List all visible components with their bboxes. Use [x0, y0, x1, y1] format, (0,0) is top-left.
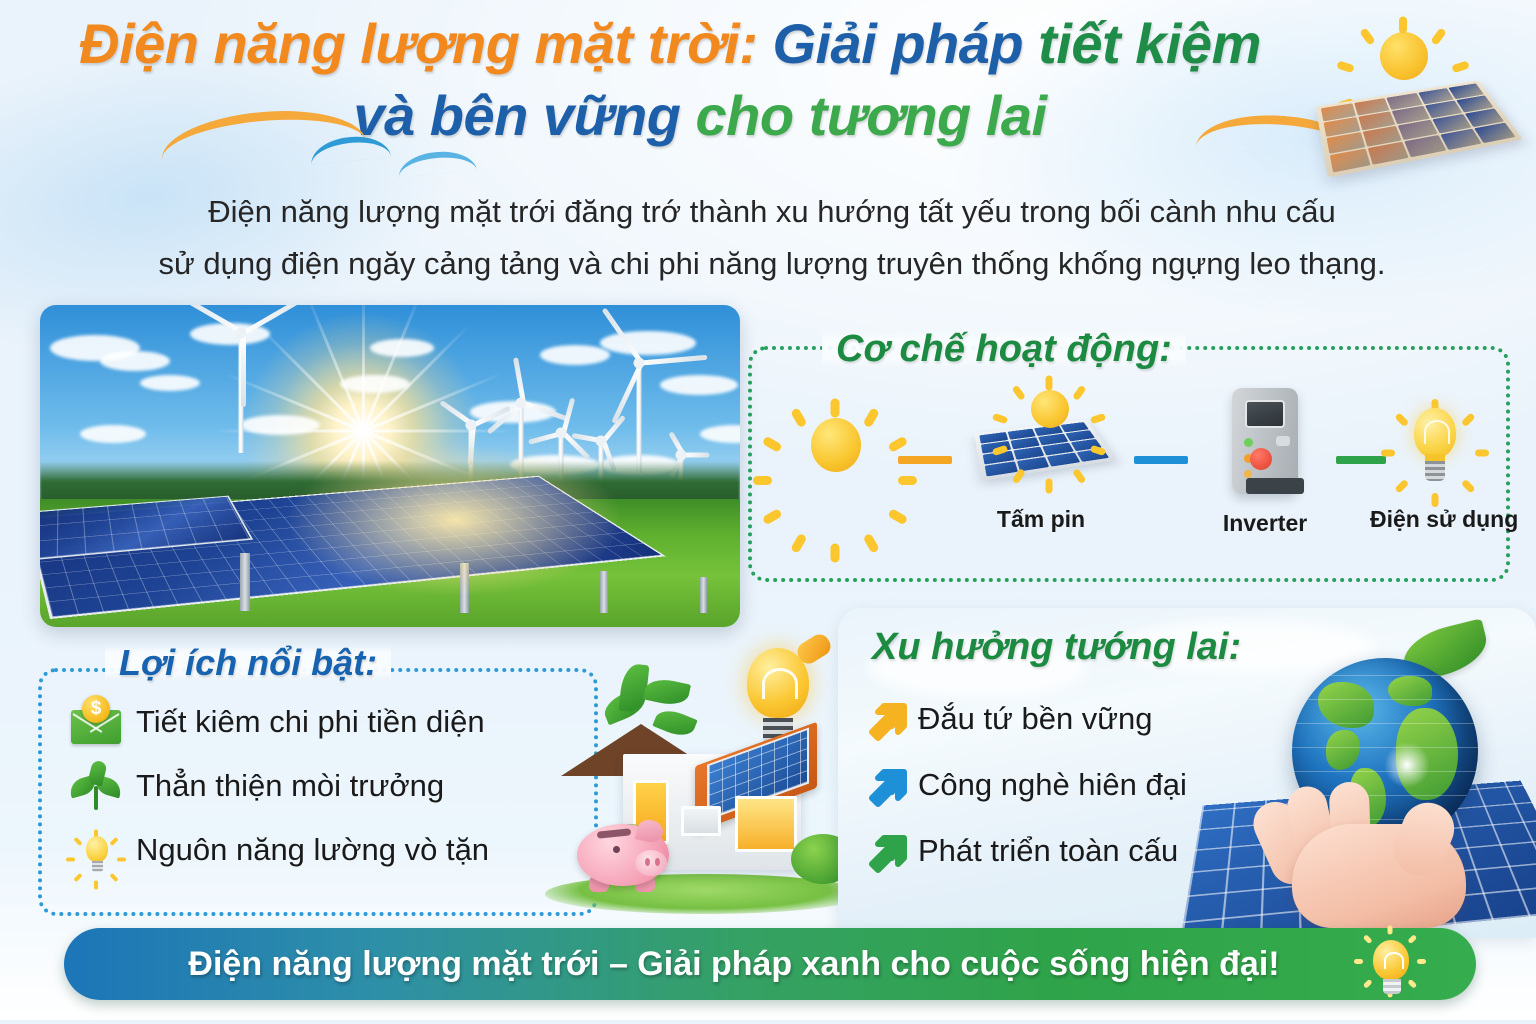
leaf	[643, 676, 691, 709]
bulb-ray	[1381, 450, 1395, 457]
sun-ray	[1072, 385, 1086, 401]
bulb-ray	[1432, 493, 1439, 507]
sun-ray	[109, 873, 118, 882]
piggy-snout	[635, 850, 667, 876]
title-segment-blue-2: và bên vững	[353, 84, 680, 147]
arrow-up-right-icon	[862, 696, 908, 742]
arrow-panel-to-inverter	[1134, 456, 1188, 464]
hand-holding-green-earth-globe-illustration	[1230, 622, 1530, 934]
trend-label-2: Công nghè hiên đại	[918, 767, 1187, 803]
sun-ray	[66, 858, 75, 862]
mechanism-flow: Tấm pin Inverter	[770, 378, 1500, 558]
wind-turbine	[240, 333, 242, 453]
sun-ray	[362, 305, 422, 432]
sun-ray	[863, 533, 880, 554]
benefits-list: $ Tiết kiêm chi phi tiền diện Thẳn thiện…	[68, 690, 588, 882]
flow-step-2-label: Tấm pin	[966, 506, 1116, 533]
title-line-2: và bên vững cho tương lai	[0, 80, 1340, 152]
bulb-base	[1383, 979, 1401, 994]
bulb-filament	[1424, 420, 1450, 444]
list-item: Đắu tứ bền vững	[862, 686, 1282, 752]
sun-ray	[1072, 468, 1086, 484]
flow-step-panel: Tấm pin	[966, 384, 1116, 533]
inverter-screen	[1245, 400, 1285, 428]
inverter-led-green	[1244, 438, 1253, 447]
cloud	[660, 375, 738, 395]
bottom-banner: Điện năng lượng mặt trới – Giải pháp xan…	[64, 928, 1476, 1000]
hand	[1248, 772, 1498, 932]
sun-ray	[1336, 60, 1355, 73]
sun-ray	[305, 305, 365, 432]
bulb-base	[92, 861, 103, 872]
bulb-base	[1425, 461, 1445, 481]
sun-ray	[1399, 17, 1407, 34]
sun-icon	[1366, 18, 1440, 92]
mechanism-panel-title: Cơ chế hoạt động:	[822, 330, 1186, 368]
arrow-sun-to-panel	[898, 456, 952, 464]
arrow-up-right-icon	[862, 828, 908, 874]
sun-ray	[117, 858, 126, 862]
title-segment-green-2: cho tương lai	[695, 84, 1046, 147]
sun-ray	[863, 407, 880, 428]
inverter-power-button	[1250, 448, 1272, 470]
cloud	[100, 351, 170, 371]
bulb-ray	[1461, 479, 1476, 494]
piggy-nostril	[655, 858, 660, 866]
turbine-hub	[516, 398, 527, 409]
list-item: Thẳn thiện mòi trưởng	[68, 754, 588, 818]
turbine-hub	[236, 328, 247, 339]
turbine-blade	[241, 333, 246, 407]
sun-ray	[992, 413, 1008, 424]
dollar-coin-icon: $	[82, 695, 110, 723]
panel-support-leg	[240, 553, 250, 611]
bulb-glass	[86, 836, 108, 862]
continent	[1388, 676, 1432, 706]
arrow-up-right-icon	[862, 762, 908, 808]
benefit-label-3: Nguôn năng lường vò tặn	[136, 832, 489, 868]
sun-ray	[790, 407, 807, 428]
sun-core	[1031, 390, 1069, 428]
sun-ray	[831, 544, 840, 563]
solar-farm-with-wind-turbines-photo	[40, 305, 740, 627]
flow-step-load: Điện sử dụng	[1370, 390, 1500, 533]
turbine-hub	[634, 358, 645, 369]
lightbulb-icon	[1387, 390, 1483, 502]
bulb-ray	[1394, 479, 1409, 494]
money-envelope-icon: $	[68, 694, 124, 750]
flow-step-inverter: Inverter	[1200, 386, 1330, 537]
cloud	[540, 345, 610, 365]
subtitle: Điện năng lượng mặt trới đăng trớ thành …	[52, 186, 1492, 290]
sun-ray	[831, 399, 840, 418]
future-trends-list: Đắu tứ bền vững Công nghè hiên đại Phát …	[862, 686, 1282, 884]
sun-ray	[109, 837, 118, 846]
bulb-filament	[1384, 952, 1404, 969]
inverter-body	[1232, 388, 1298, 494]
bulb-ray	[1394, 412, 1409, 427]
inverter-button-small	[1276, 436, 1290, 446]
infographic-page: Điện năng lượng mặt trời: Giải pháp tiết…	[0, 0, 1536, 1024]
piggy-eye	[613, 846, 620, 853]
list-item: Phát triển toàn cấu	[862, 818, 1282, 884]
panel-support-leg	[700, 577, 707, 613]
sun-icon	[787, 396, 883, 492]
inverter-led-amber	[1244, 470, 1252, 478]
banner-text: Điện năng lượng mặt trới – Giải pháp xan…	[64, 928, 1404, 1000]
tilted-solar-panel-with-sun-icon	[1314, 10, 1514, 180]
title-line-1: Điện năng lượng mặt trời: Giải pháp tiết…	[0, 8, 1340, 80]
house-window-small	[681, 806, 721, 836]
sun-ray	[1354, 959, 1363, 964]
turbine-hub	[466, 420, 477, 431]
solar-panel-icon	[976, 384, 1106, 492]
solar-panel-icon	[1316, 80, 1523, 177]
subtitle-line-2: sử dụng điện ngăy cảng tảng và chi phi n…	[52, 238, 1492, 290]
sun-ray	[1363, 979, 1373, 989]
sun-core	[811, 418, 861, 472]
sun-ray	[1090, 413, 1106, 424]
sun-ray	[1046, 376, 1053, 391]
sun-icon-behind-panel	[1014, 374, 1084, 444]
sun-ray	[898, 476, 917, 485]
sun-ray	[1430, 27, 1446, 45]
sun-glare	[290, 445, 620, 595]
panel-cell	[1047, 453, 1080, 467]
lightbulb-icon	[68, 822, 124, 878]
sun-ray	[73, 837, 82, 846]
sun-ray	[1388, 926, 1393, 935]
cloud	[600, 331, 696, 355]
turbine-hub	[556, 428, 567, 439]
sun-ray	[1046, 479, 1053, 494]
list-item: Công nghè hiên đại	[862, 752, 1282, 818]
sun-ray	[73, 873, 82, 882]
list-item: $ Tiết kiêm chi phi tiền diện	[68, 690, 588, 754]
sun-ray	[1011, 385, 1025, 401]
turbine-blade	[684, 453, 710, 458]
cloud	[370, 339, 434, 357]
trend-label-1: Đắu tứ bền vững	[918, 701, 1153, 737]
title-segment-blue: Giải pháp	[772, 12, 1023, 75]
sun-core	[1380, 32, 1428, 80]
wind-turbine	[638, 363, 640, 473]
benefit-label-2: Thẳn thiện mòi trưởng	[136, 768, 444, 804]
sprout-stem	[94, 786, 98, 810]
sun-ray	[1407, 979, 1417, 989]
title-segment-green: tiết kiệm	[1038, 12, 1261, 75]
future-trends-title: Xu hưởng tướng lai:	[872, 626, 1241, 669]
title-segment-orange: Điện năng lượng mặt trời:	[79, 12, 757, 75]
inverter-foot	[1246, 478, 1304, 494]
flow-step-sun	[780, 396, 890, 492]
sprout-icon	[68, 758, 124, 814]
sun-ray	[887, 508, 908, 525]
turbine-hub	[676, 450, 687, 461]
bulb-ray	[1475, 450, 1489, 457]
sun-ray	[1417, 959, 1426, 964]
continent	[1318, 682, 1374, 728]
benefits-panel-title: Lợi ích nổi bật:	[105, 645, 391, 681]
turbine-mast	[637, 363, 642, 473]
page-title: Điện năng lượng mặt trời: Giải pháp tiết…	[0, 8, 1340, 178]
cloud	[340, 375, 410, 393]
flow-step-4-label: Điện sử dụng	[1370, 506, 1500, 533]
piggy-bank-icon	[573, 814, 681, 892]
sun-ray	[1363, 934, 1373, 944]
flow-step-3-label: Inverter	[1200, 510, 1330, 537]
lightbulb-icon	[1356, 932, 1424, 998]
sun-ray	[753, 476, 772, 485]
sun-ray	[1359, 27, 1375, 45]
list-item: Nguôn năng lường vò tặn	[68, 818, 588, 882]
sun-ray	[94, 881, 98, 890]
house-with-rooftop-solar-and-piggy-bank-illustration	[545, 628, 865, 920]
subtitle-line-1: Điện năng lượng mặt trới đăng trớ thành …	[52, 186, 1492, 238]
sun-ray	[1407, 934, 1417, 944]
cloud	[240, 415, 320, 435]
piggy-nostril	[645, 858, 650, 866]
bulb-filament	[762, 668, 798, 699]
continent	[1326, 730, 1360, 770]
benefit-label-1: Tiết kiêm chi phi tiền diện	[136, 704, 485, 740]
sun-ray	[1451, 60, 1470, 73]
sun-ray	[887, 436, 908, 453]
sun-ray	[790, 533, 807, 554]
cloud	[140, 375, 200, 391]
house-window-large	[735, 796, 797, 852]
bulb-ray	[1461, 412, 1476, 427]
cloud	[80, 425, 146, 443]
sun-ray	[362, 305, 365, 431]
trend-label-3: Phát triển toàn cấu	[918, 833, 1178, 869]
inverter-icon	[1222, 386, 1308, 502]
